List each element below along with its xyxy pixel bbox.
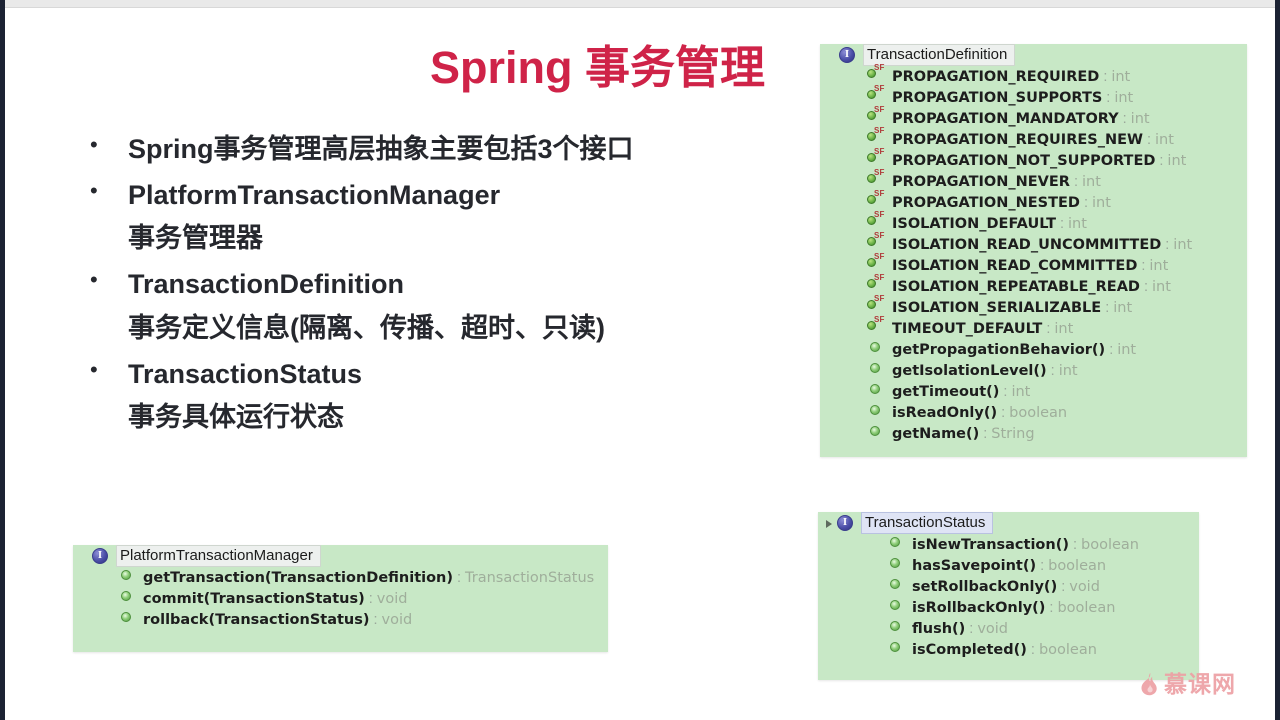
member-name: ISOLATION_SERIALIZABLE — [892, 300, 1101, 316]
uml-panel-platform-transaction-manager: PlatformTransactionManagergetTransaction… — [73, 545, 608, 652]
member-row[interactable]: isNewTransaction():boolean — [818, 535, 1199, 556]
interface-icon — [837, 515, 853, 531]
bullet-marker-icon: • — [84, 355, 128, 385]
public-method-icon — [866, 423, 892, 437]
member-name: ISOLATION_READ_UNCOMMITTED — [892, 237, 1161, 253]
member-row[interactable]: PROPAGATION_MANDATORY:int — [820, 109, 1247, 130]
member-row[interactable]: setRollbackOnly():void — [818, 577, 1199, 598]
member-row[interactable]: flush():void — [818, 619, 1199, 640]
member-type: int — [1092, 195, 1111, 211]
member-type: int — [1082, 174, 1101, 190]
static-final-field-icon — [866, 150, 892, 164]
member-row[interactable]: getIsolationLevel():int — [820, 361, 1247, 382]
member-name: getTimeout() — [892, 384, 999, 400]
member-row[interactable]: ISOLATION_READ_UNCOMMITTED:int — [820, 235, 1247, 256]
member-type: void — [377, 591, 408, 607]
member-name: PROPAGATION_SUPPORTS — [892, 90, 1102, 106]
member-row[interactable]: isReadOnly():boolean — [820, 403, 1247, 424]
member-type: int — [1131, 111, 1150, 127]
member-row[interactable]: rollback(TransactionStatus):void — [73, 610, 608, 631]
member-separator: : — [1099, 69, 1111, 85]
member-row[interactable]: getTransaction(TransactionDefinition):Tr… — [73, 568, 608, 589]
public-method-icon — [866, 402, 892, 416]
public-method-icon — [866, 339, 892, 353]
expand-collapse-triangle-icon — [79, 549, 92, 563]
member-row[interactable]: getName():String — [820, 424, 1247, 445]
member-separator: : — [1143, 132, 1155, 148]
member-name: isReadOnly() — [892, 405, 997, 421]
member-separator: : — [1056, 216, 1068, 232]
member-type: boolean — [1048, 558, 1106, 574]
member-type: TransactionStatus — [465, 570, 594, 586]
member-row[interactable]: getTimeout():int — [820, 382, 1247, 403]
member-row[interactable]: PROPAGATION_NOT_SUPPORTED:int — [820, 151, 1247, 172]
member-name: PROPAGATION_MANDATORY — [892, 111, 1119, 127]
static-final-field-icon — [866, 171, 892, 185]
bullet-item: •Spring事务管理高层抽象主要包括3个接口 — [84, 130, 784, 169]
public-method-icon — [886, 534, 912, 548]
member-type: int — [1113, 300, 1132, 316]
member-name: PROPAGATION_REQUIRED — [892, 69, 1099, 85]
member-name: PROPAGATION_REQUIRES_NEW — [892, 132, 1143, 148]
member-separator: : — [1137, 258, 1149, 274]
member-separator: : — [1070, 174, 1082, 190]
member-name: PROPAGATION_NOT_SUPPORTED — [892, 153, 1155, 169]
public-method-icon — [117, 567, 143, 581]
member-type: void — [1069, 579, 1100, 595]
member-separator: : — [1140, 279, 1152, 295]
bullet-marker-icon: • — [84, 130, 128, 160]
member-row[interactable]: ISOLATION_SERIALIZABLE:int — [820, 298, 1247, 319]
member-type: String — [991, 426, 1034, 442]
slide-canvas: Spring 事务管理 •Spring事务管理高层抽象主要包括3个接口•Plat… — [0, 0, 1280, 720]
member-type: int — [1011, 384, 1030, 400]
slide-right-border — [1275, 0, 1280, 720]
member-row[interactable]: ISOLATION_DEFAULT:int — [820, 214, 1247, 235]
member-separator: : — [1047, 363, 1059, 379]
public-method-icon — [886, 555, 912, 569]
panel-member-list: getTransaction(TransactionDefinition):Tr… — [73, 567, 608, 636]
member-separator: : — [1119, 111, 1131, 127]
member-name: setRollbackOnly() — [912, 579, 1057, 595]
member-row[interactable]: PROPAGATION_REQUIRED:int — [820, 67, 1247, 88]
member-separator: : — [1042, 321, 1054, 337]
member-row[interactable]: isCompleted():boolean — [818, 640, 1199, 661]
member-separator: : — [1102, 90, 1114, 106]
member-name: TIMEOUT_DEFAULT — [892, 321, 1042, 337]
member-type: int — [1111, 69, 1130, 85]
member-type: int — [1059, 363, 1078, 379]
member-separator: : — [365, 591, 377, 607]
bullet-marker-icon: • — [84, 176, 128, 206]
bullet-heading: Spring事务管理高层抽象主要包括3个接口 — [128, 130, 634, 169]
bullet-block: •TransactionDefinition事务定义信息(隔离、传播、超时、只读… — [84, 265, 784, 347]
bullet-item: •TransactionStatus — [84, 355, 784, 394]
member-separator: : — [1080, 195, 1092, 211]
interface-icon — [839, 47, 855, 63]
bullet-heading: TransactionStatus — [128, 355, 362, 394]
member-name: hasSavepoint() — [912, 558, 1036, 574]
static-final-field-icon — [866, 129, 892, 143]
member-type: boolean — [1039, 642, 1097, 658]
static-final-field-icon — [866, 318, 892, 332]
imooc-watermark: 慕课网 — [1139, 672, 1236, 696]
bullet-item: •PlatformTransactionManager — [84, 176, 784, 215]
bullet-subtext: 事务具体运行状态 — [128, 398, 784, 437]
static-final-field-icon — [866, 192, 892, 206]
member-name: isCompleted() — [912, 642, 1027, 658]
flame-icon — [1139, 672, 1159, 696]
static-final-field-icon — [866, 108, 892, 122]
member-row[interactable]: PROPAGATION_NESTED:int — [820, 193, 1247, 214]
member-type: boolean — [1057, 600, 1115, 616]
panel-member-list: PROPAGATION_REQUIRED:intPROPAGATION_SUPP… — [820, 66, 1247, 450]
member-name: isRollbackOnly() — [912, 600, 1045, 616]
member-separator: : — [1161, 237, 1173, 253]
member-type: int — [1114, 90, 1133, 106]
member-name: flush() — [912, 621, 965, 637]
member-name: rollback(TransactionStatus) — [143, 612, 370, 628]
member-type: int — [1167, 153, 1186, 169]
public-method-icon — [117, 609, 143, 623]
bullet-subtext: 事务定义信息(隔离、传播、超时、只读) — [128, 309, 784, 348]
static-final-field-icon — [866, 66, 892, 80]
bullet-subtext: 事务管理器 — [128, 219, 784, 258]
member-name: PROPAGATION_NEVER — [892, 174, 1070, 190]
bullet-heading: PlatformTransactionManager — [128, 176, 500, 215]
member-type: int — [1117, 342, 1136, 358]
panel-header[interactable]: TransactionStatus — [818, 512, 1199, 534]
member-separator: : — [453, 570, 465, 586]
member-separator: : — [1036, 558, 1048, 574]
public-method-icon — [886, 639, 912, 653]
bullet-block: •Spring事务管理高层抽象主要包括3个接口 — [84, 130, 784, 169]
bullet-item: •TransactionDefinition — [84, 265, 784, 304]
member-row[interactable]: PROPAGATION_SUPPORTS:int — [820, 88, 1247, 109]
panel-type-name[interactable]: PlatformTransactionManager — [116, 545, 321, 567]
public-method-icon — [117, 588, 143, 602]
member-separator: : — [1057, 579, 1069, 595]
uml-panel-transaction-status: TransactionStatusisNewTransaction():bool… — [818, 512, 1199, 680]
member-type: int — [1173, 237, 1192, 253]
bullet-heading: TransactionDefinition — [128, 265, 404, 304]
member-type: void — [382, 612, 413, 628]
slide-top-border — [5, 0, 1275, 8]
panel-header[interactable]: TransactionDefinition — [820, 44, 1247, 66]
member-type: int — [1155, 132, 1174, 148]
panel-header[interactable]: PlatformTransactionManager — [73, 545, 608, 567]
public-method-icon — [886, 618, 912, 632]
bullet-list: •Spring事务管理高层抽象主要包括3个接口•PlatformTransact… — [84, 130, 784, 444]
member-name: ISOLATION_REPEATABLE_READ — [892, 279, 1140, 295]
static-final-field-icon — [866, 255, 892, 269]
public-method-icon — [866, 360, 892, 374]
member-separator: : — [979, 426, 991, 442]
slide-left-border — [0, 0, 5, 720]
member-name: ISOLATION_READ_COMMITTED — [892, 258, 1137, 274]
member-row[interactable]: PROPAGATION_REQUIRES_NEW:int — [820, 130, 1247, 151]
member-type: void — [977, 621, 1008, 637]
member-row[interactable]: ISOLATION_READ_COMMITTED:int — [820, 256, 1247, 277]
member-name: isNewTransaction() — [912, 537, 1069, 553]
member-separator: : — [370, 612, 382, 628]
panel-type-name[interactable]: TransactionDefinition — [863, 44, 1015, 66]
member-separator: : — [997, 405, 1009, 421]
member-name: getIsolationLevel() — [892, 363, 1047, 379]
uml-panel-transaction-definition: TransactionDefinitionPROPAGATION_REQUIRE… — [820, 44, 1247, 457]
member-type: boolean — [1009, 405, 1067, 421]
member-name: PROPAGATION_NESTED — [892, 195, 1080, 211]
watermark-text: 慕课网 — [1164, 673, 1236, 696]
static-final-field-icon — [866, 213, 892, 227]
member-separator: : — [1069, 537, 1081, 553]
expand-collapse-triangle-icon[interactable] — [824, 516, 837, 530]
member-row[interactable]: isRollbackOnly():boolean — [818, 598, 1199, 619]
static-final-field-icon — [866, 297, 892, 311]
interface-icon — [92, 548, 108, 564]
expand-collapse-triangle-icon — [826, 48, 839, 62]
member-separator: : — [1045, 600, 1057, 616]
member-type: int — [1054, 321, 1073, 337]
member-separator: : — [1027, 642, 1039, 658]
member-type: int — [1068, 216, 1087, 232]
member-separator: : — [1105, 342, 1117, 358]
public-method-icon — [866, 381, 892, 395]
member-name: getName() — [892, 426, 979, 442]
member-type: boolean — [1081, 537, 1139, 553]
bullet-block: •TransactionStatus事务具体运行状态 — [84, 355, 784, 437]
member-row[interactable]: getPropagationBehavior():int — [820, 340, 1247, 361]
member-row[interactable]: PROPAGATION_NEVER:int — [820, 172, 1247, 193]
bullet-block: •PlatformTransactionManager事务管理器 — [84, 176, 784, 258]
member-name: ISOLATION_DEFAULT — [892, 216, 1056, 232]
member-type: int — [1149, 258, 1168, 274]
public-method-icon — [886, 576, 912, 590]
member-row[interactable]: ISOLATION_REPEATABLE_READ:int — [820, 277, 1247, 298]
public-method-icon — [886, 597, 912, 611]
member-type: int — [1152, 279, 1171, 295]
page-title: Spring 事务管理 — [430, 44, 850, 91]
member-name: getTransaction(TransactionDefinition) — [143, 570, 453, 586]
panel-type-name[interactable]: TransactionStatus — [861, 512, 993, 534]
member-row[interactable]: hasSavepoint():boolean — [818, 556, 1199, 577]
member-row[interactable]: TIMEOUT_DEFAULT:int — [820, 319, 1247, 340]
member-name: commit(TransactionStatus) — [143, 591, 365, 607]
member-name: getPropagationBehavior() — [892, 342, 1105, 358]
panel-member-list: isNewTransaction():booleanhasSavepoint()… — [818, 534, 1199, 666]
member-separator: : — [1101, 300, 1113, 316]
member-row[interactable]: commit(TransactionStatus):void — [73, 589, 608, 610]
static-final-field-icon — [866, 234, 892, 248]
member-separator: : — [999, 384, 1011, 400]
member-separator: : — [965, 621, 977, 637]
member-separator: : — [1155, 153, 1167, 169]
static-final-field-icon — [866, 276, 892, 290]
static-final-field-icon — [866, 87, 892, 101]
bullet-marker-icon: • — [84, 265, 128, 295]
